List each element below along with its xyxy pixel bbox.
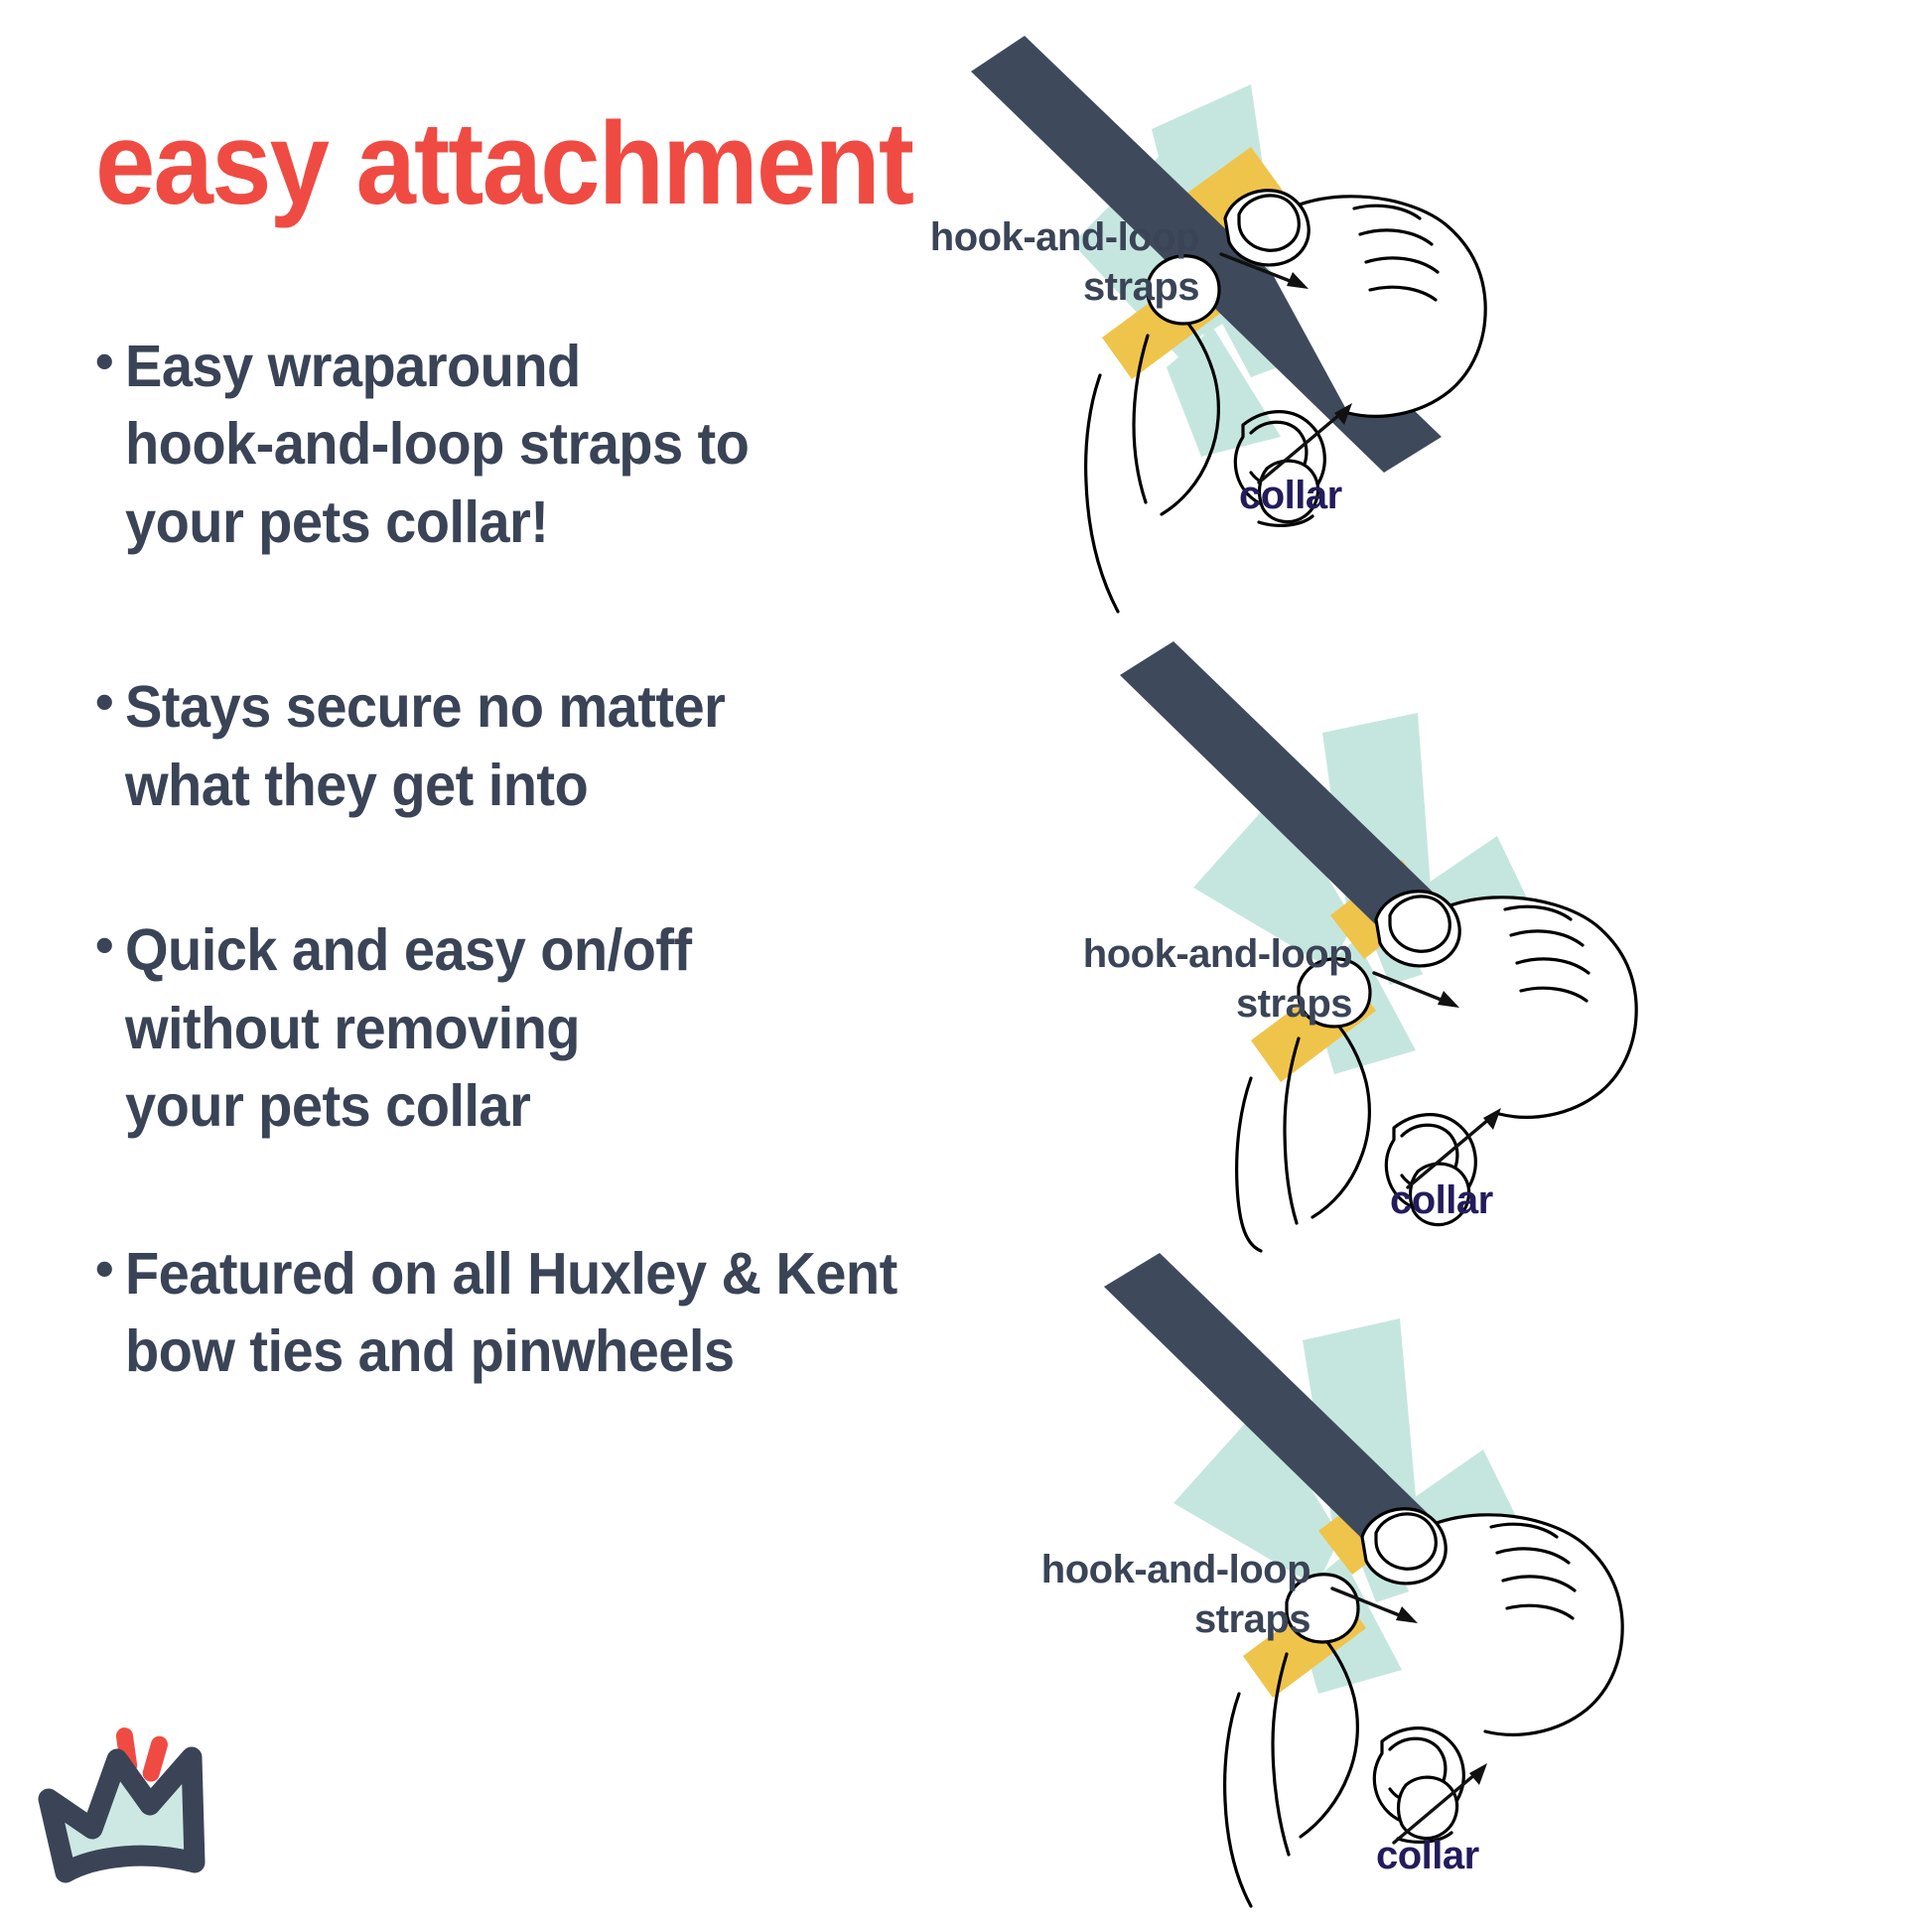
collar-label: collar xyxy=(1390,1178,1493,1222)
feature-bullet-list: • Easy wraparound hook-and-loop straps t… xyxy=(95,328,1088,1391)
list-item-label: Quick and easy on/off without removing y… xyxy=(125,911,1040,1145)
hook-and-loop-straps-label-line1: hook-and-loop xyxy=(1041,1548,1311,1591)
list-item-label: Easy wraparound hook-and-loop straps to … xyxy=(125,328,1040,561)
collar-label: collar xyxy=(1239,474,1342,517)
illustration-panel-1: hook-and-loop straps collar xyxy=(953,20,1926,635)
crown-logo xyxy=(36,1688,224,1916)
collar-label: collar xyxy=(1376,1834,1479,1877)
list-item-label: Stays secure no matter what they get int… xyxy=(125,668,1040,824)
bullet-marker-icon: • xyxy=(95,911,125,981)
list-item-label: Featured on all Huxley & Kent bow ties a… xyxy=(125,1235,1040,1391)
page-title: easy attachment xyxy=(95,105,912,222)
hook-and-loop-straps-label-line2: straps xyxy=(1194,1597,1311,1641)
hook-and-loop-straps-label-line2: straps xyxy=(1083,265,1199,309)
illustration-panel-2: hook-and-loop straps collar xyxy=(953,635,1926,1251)
infographic-canvas: easy attachment • Easy wraparound hook-a… xyxy=(0,0,1932,1932)
list-item: • Easy wraparound hook-and-loop straps t… xyxy=(95,328,1088,561)
illustration-panel-3: hook-and-loop straps collar xyxy=(953,1221,1926,1916)
list-item: • Stays secure no matter what they get i… xyxy=(95,668,1088,824)
bullet-marker-icon: • xyxy=(95,668,125,738)
bullet-marker-icon: • xyxy=(95,328,125,397)
bullet-marker-icon: • xyxy=(95,1235,125,1305)
hook-and-loop-straps-label-line2: straps xyxy=(1236,982,1352,1026)
hook-and-loop-straps-label-line1: hook-and-loop xyxy=(1083,932,1352,976)
list-item: • Quick and easy on/off without removing… xyxy=(95,911,1088,1145)
list-item: • Featured on all Huxley & Kent bow ties… xyxy=(95,1235,1088,1391)
hook-and-loop-straps-label-line1: hook-and-loop xyxy=(930,215,1199,259)
